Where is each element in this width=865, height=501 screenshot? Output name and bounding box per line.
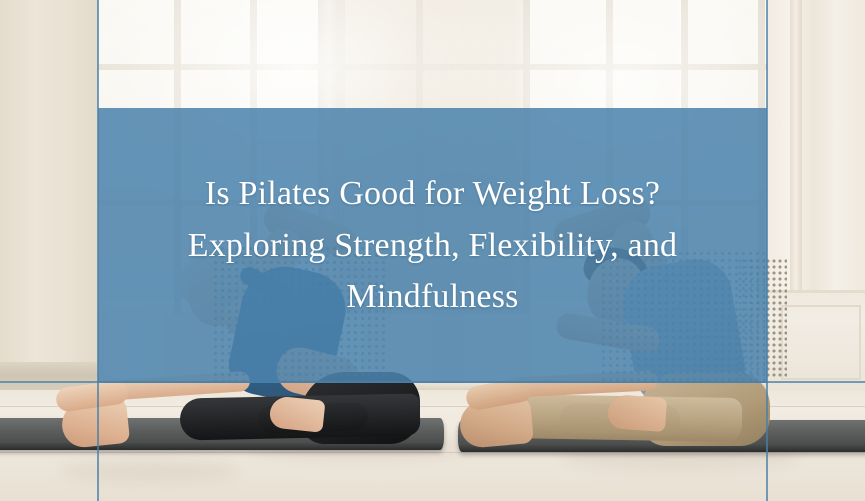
- title-block: Is Pilates Good for Weight Loss? Explori…: [98, 108, 767, 383]
- page-title: Is Pilates Good for Weight Loss? Explori…: [133, 168, 733, 323]
- hero-banner: Is Pilates Good for Weight Loss? Explori…: [0, 0, 865, 501]
- wall-left-column: [0, 0, 98, 394]
- radiator-grille: [765, 258, 787, 378]
- woman-folded-foot: [268, 395, 325, 432]
- door-jamb: [790, 0, 802, 300]
- man-folded-foot: [607, 394, 667, 432]
- floor-shading: [60, 460, 240, 482]
